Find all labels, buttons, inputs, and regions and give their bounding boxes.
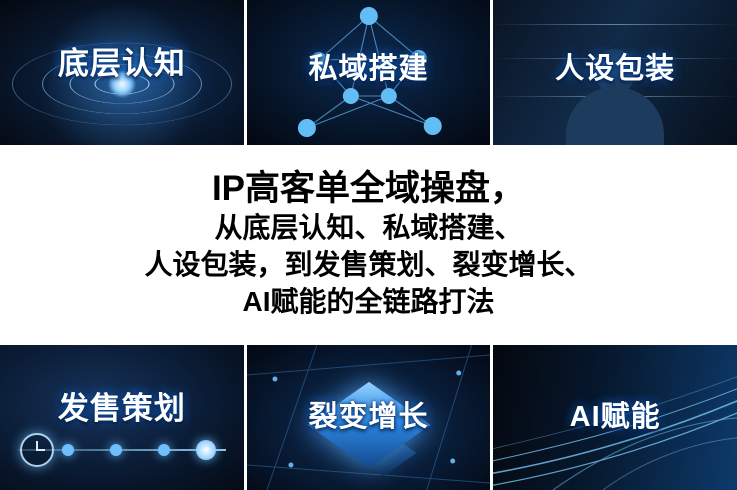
tile-fission-growth: 裂变增长: [247, 345, 491, 490]
timeline-dot-1: [62, 444, 74, 456]
tile-label-persona-packaging: 人设包装: [493, 45, 737, 87]
poster-headline: IP高客单全域操盘，: [212, 168, 525, 209]
tile-ai-empowerment: AI赋能: [493, 345, 737, 490]
timeline-dot-2: [110, 444, 122, 456]
top-image-strip: 底层认知: [0, 0, 737, 145]
tile-label-bottom-cognition: 底层认知: [0, 38, 244, 83]
poster-root: 底层认知: [0, 0, 737, 490]
poster-subline-2: 人设包装，到发售策划、裂变增长、: [144, 246, 592, 283]
clock-icon: [20, 433, 54, 467]
tile-label-ai-empowerment: AI赋能: [493, 393, 737, 435]
poster-subline-1: 从底层认知、私域搭建、: [214, 209, 522, 246]
poster-subline-3: AI赋能的全链路打法: [242, 283, 494, 320]
tile-launch-planning: 发售策划: [0, 345, 244, 490]
bottom-image-strip: 发售策划 裂变增长: [0, 345, 737, 490]
tile-bottom-cognition: 底层认知: [0, 0, 244, 145]
tile-label-launch-planning: 发售策划: [0, 383, 244, 428]
tile-label-fission-growth: 裂变增长: [247, 393, 491, 435]
streak-1: [493, 24, 737, 25]
tile-persona-packaging: 人设包装: [493, 0, 737, 145]
timeline-dot-3: [158, 444, 170, 456]
tile-label-private-domain: 私域搭建: [247, 45, 491, 87]
center-text-block: IP高客单全域操盘， 从底层认知、私域搭建、 人设包装，到发售策划、裂变增长、 …: [0, 145, 737, 345]
tile-private-domain: 私域搭建: [247, 0, 491, 145]
timeline-dot-4: [196, 440, 216, 460]
